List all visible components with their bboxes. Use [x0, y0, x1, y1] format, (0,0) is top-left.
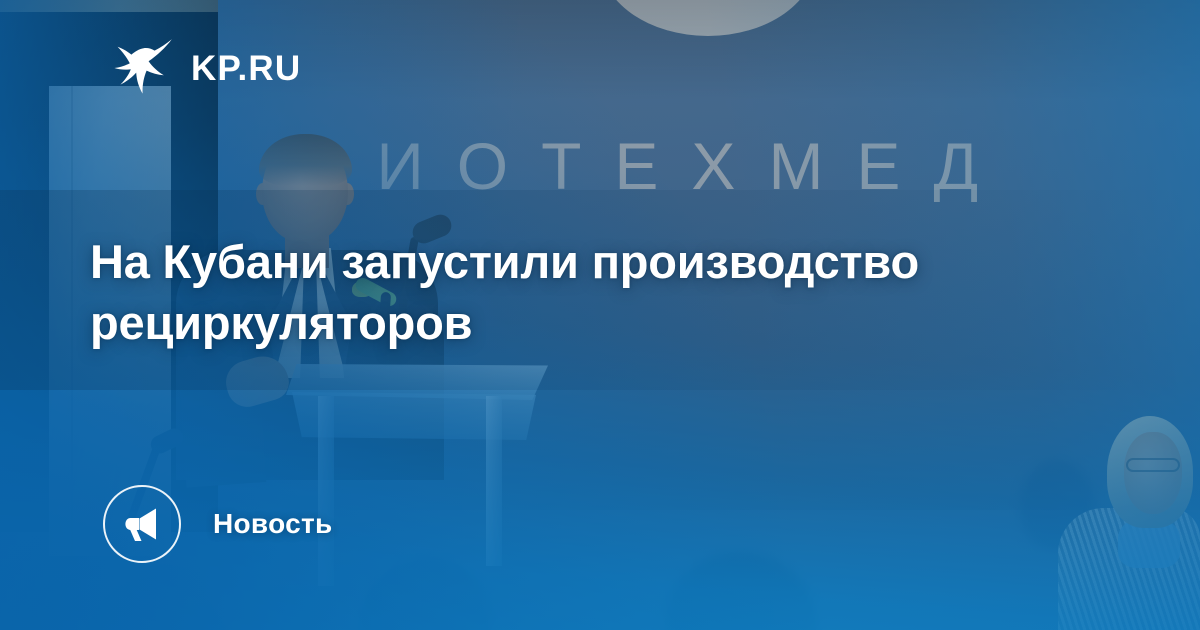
page-title: На Кубани запустили производство рецирку…: [90, 231, 1040, 353]
news-share-card: БИОТЕХМЕД: [0, 0, 1200, 630]
megaphone-icon: [122, 504, 162, 544]
badge-icon-circle: [103, 485, 181, 563]
status-badge[interactable]: Новость: [103, 485, 333, 563]
brand-lockup[interactable]: KP.RU: [108, 36, 301, 100]
swallow-bird-icon: [108, 36, 174, 100]
badge-label: Новость: [213, 508, 333, 540]
brand-name: KP.RU: [191, 51, 301, 86]
overlay-ui: KP.RU На Кубани запустили производство р…: [0, 0, 1200, 630]
